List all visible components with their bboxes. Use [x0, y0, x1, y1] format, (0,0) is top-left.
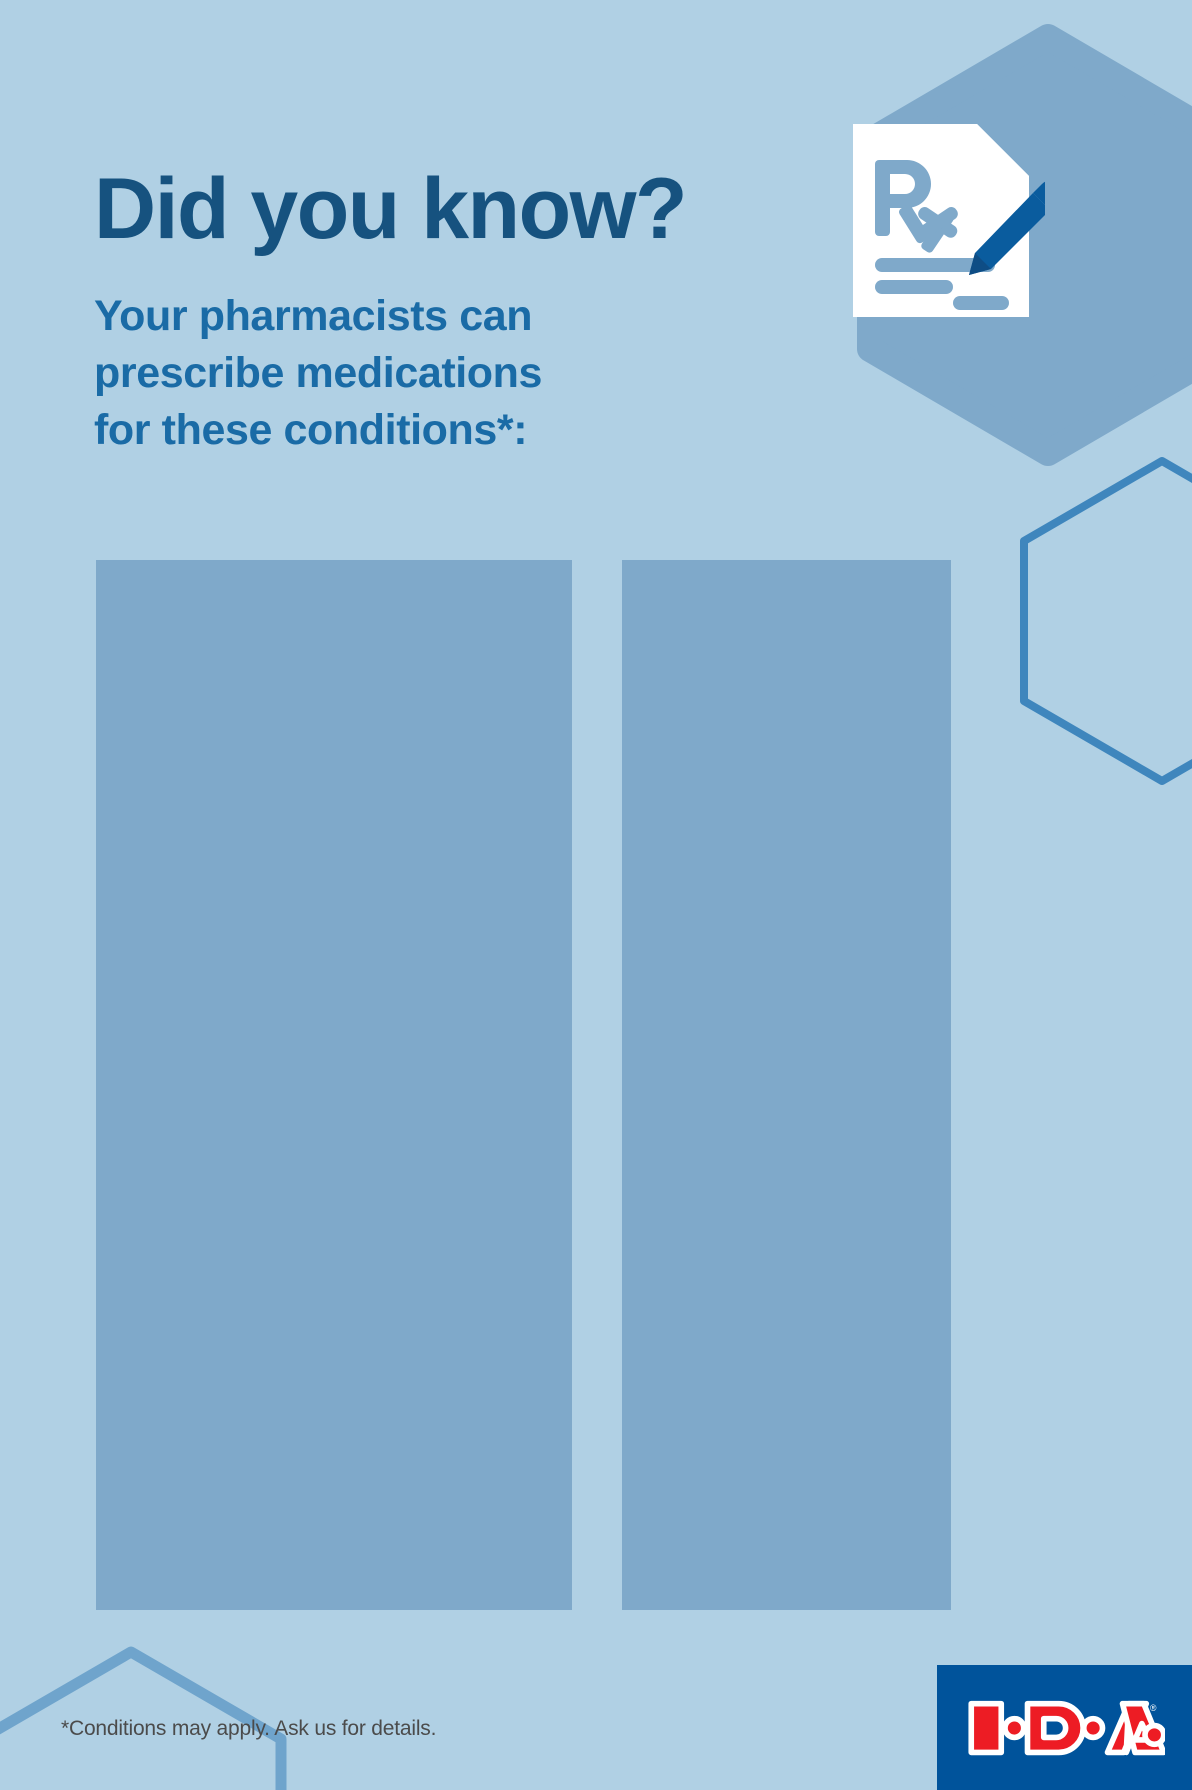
- conditions-column-left: [96, 560, 572, 1610]
- document-line-2: [875, 280, 953, 294]
- document-folded-corner: [977, 124, 1029, 176]
- conditions-column-right: [622, 560, 951, 1610]
- rx-prescription-pencil-icon: [845, 118, 1045, 323]
- hexagon-outline-right-edge: [1024, 461, 1192, 781]
- page-title: Did you know?: [94, 166, 686, 252]
- ida-logo-panel: ® I.D.A.: [937, 1665, 1192, 1790]
- subtitle-line-1: Your pharmacists can: [94, 288, 714, 345]
- ida-logo: ®: [965, 1696, 1165, 1760]
- subtitle-line-3: for these conditions*:: [94, 402, 714, 459]
- footnote-disclaimer: *Conditions may apply. Ask us for detail…: [61, 1717, 436, 1741]
- document-signature-line: [953, 296, 1009, 310]
- poster-canvas: Did you know? Your pharmacists can presc…: [0, 0, 1192, 1790]
- subtitle-line-2: prescribe medications: [94, 345, 714, 402]
- registered-trademark-mark: ®: [1150, 1703, 1157, 1713]
- subtitle: Your pharmacists can prescribe medicatio…: [94, 288, 714, 458]
